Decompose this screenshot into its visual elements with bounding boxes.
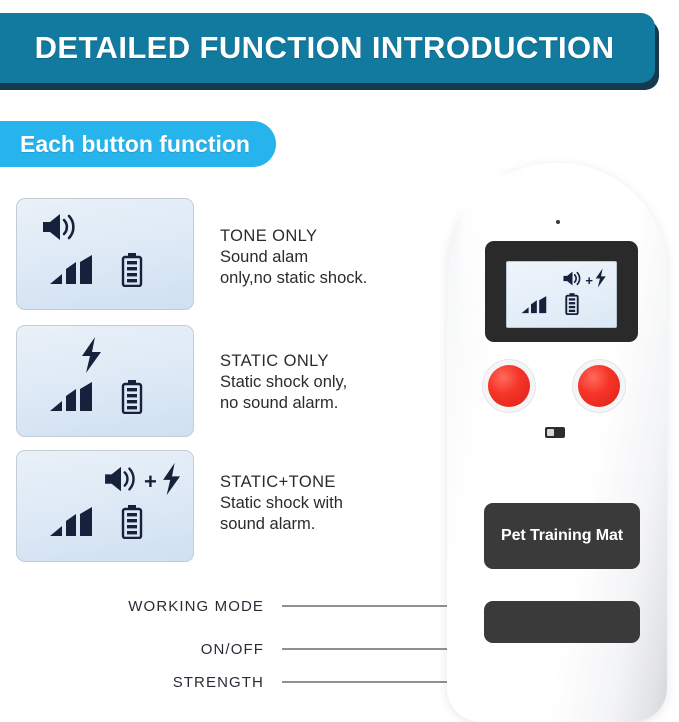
- battery-icon: [121, 253, 143, 292]
- feature-text-static-tone: STATIC+TONE Static shock with sound alar…: [220, 450, 343, 535]
- plus-sign: +: [585, 274, 593, 287]
- on-off-slider-switch[interactable]: [545, 427, 565, 438]
- lightning-icon: [594, 268, 608, 293]
- feature-title: STATIC+TONE: [220, 472, 343, 493]
- feature-row-tone-only: TONE ONLY Sound alam only,no static shoc…: [16, 198, 367, 310]
- feature-title: STATIC ONLY: [220, 351, 347, 372]
- lower-panel: [484, 601, 640, 643]
- battery-icon: [121, 380, 143, 419]
- feature-desc-line2: no sound alarm.: [220, 393, 347, 414]
- feature-text-tone-only: TONE ONLY Sound alam only,no static shoc…: [220, 198, 367, 289]
- lightning-icon: [160, 462, 184, 501]
- signal-bars-icon: [49, 382, 95, 419]
- section-badge: Each button function: [0, 121, 276, 167]
- feature-desc-line2: only,no static shock.: [220, 268, 367, 289]
- feature-desc-line1: Sound alam: [220, 247, 367, 268]
- speaker-icon: [561, 270, 584, 292]
- lcd-status-icons: [521, 293, 579, 320]
- working-mode-button[interactable]: [488, 365, 530, 407]
- icon-card-bottom-icons: [49, 380, 143, 419]
- icon-card-top-icons: [39, 211, 81, 248]
- speaker-icon: [101, 464, 141, 499]
- feature-title: TONE ONLY: [220, 226, 367, 247]
- lcd-mode-icons: +: [561, 268, 608, 293]
- icon-card-static-only: [16, 325, 194, 437]
- signal-bars-icon: [49, 507, 95, 544]
- plus-sign: +: [144, 471, 157, 493]
- strength-button[interactable]: [578, 365, 620, 407]
- lcd-display: +: [506, 261, 617, 328]
- brand-label: Pet Training Mat: [501, 527, 623, 545]
- feature-row-static-tone: +: [16, 450, 343, 562]
- header-banner: DETAILED FUNCTION INTRODUCTION: [0, 13, 655, 83]
- feature-row-static-only: STATIC ONLY Static shock only, no sound …: [16, 325, 347, 437]
- feature-desc-line2: sound alarm.: [220, 514, 343, 535]
- feature-desc-line1: Static shock only,: [220, 372, 347, 393]
- signal-bars-icon: [49, 255, 95, 292]
- led-indicator-dot: [556, 220, 560, 224]
- callout-label-strength: STRENGTH: [173, 674, 264, 691]
- section-badge-label: Each button function: [20, 131, 250, 158]
- icon-card-top-icons: +: [101, 462, 184, 501]
- lightning-icon: [79, 336, 105, 379]
- callout-label-working-mode: WORKING MODE: [128, 598, 264, 615]
- icon-card-static-tone: +: [16, 450, 194, 562]
- slider-knob: [547, 429, 554, 436]
- battery-icon: [565, 293, 579, 320]
- icon-card-bottom-icons: [49, 253, 143, 292]
- remote-control-device: +: [447, 163, 667, 722]
- signal-bars-icon: [521, 296, 548, 320]
- speaker-icon: [39, 211, 81, 248]
- callout-label-on-off: ON/OFF: [201, 641, 264, 658]
- feature-desc-line1: Static shock with: [220, 493, 343, 514]
- battery-icon: [121, 505, 143, 544]
- brand-panel: Pet Training Mat: [484, 503, 640, 569]
- product-infographic: DETAILED FUNCTION INTRODUCTION Each butt…: [0, 0, 679, 722]
- icon-card-top-icons: [79, 336, 105, 379]
- feature-text-static-only: STATIC ONLY Static shock only, no sound …: [220, 325, 347, 414]
- icon-card-bottom-icons: [49, 505, 143, 544]
- icon-card-tone-only: [16, 198, 194, 310]
- page-title: DETAILED FUNCTION INTRODUCTION: [21, 30, 615, 66]
- screen-bezel: +: [485, 241, 638, 342]
